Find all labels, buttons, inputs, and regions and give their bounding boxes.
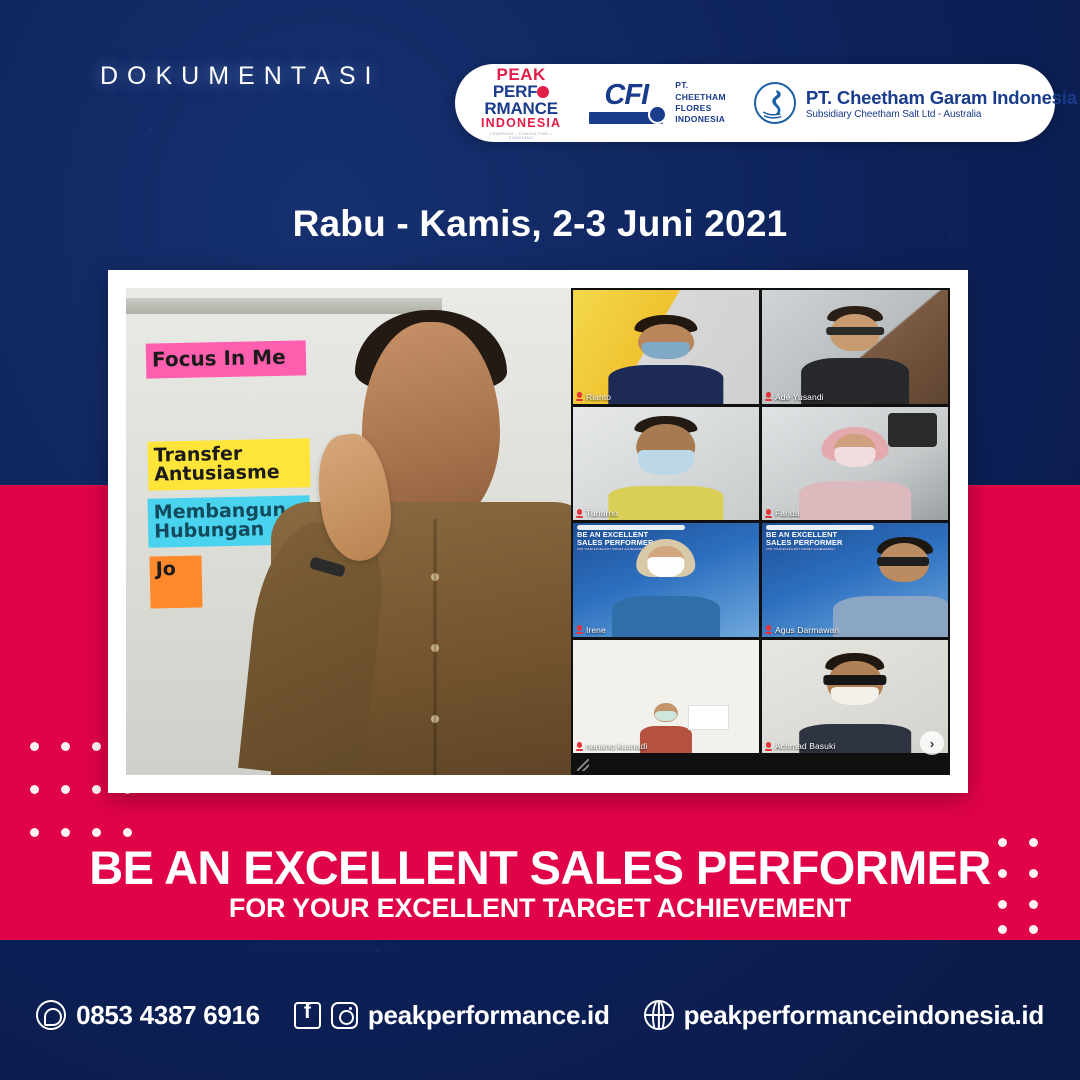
participant-mask — [638, 450, 694, 475]
participant-body — [608, 486, 723, 520]
cfi-line4: INDONESIA — [675, 114, 726, 125]
mic-icon — [576, 509, 583, 518]
cfi-line1: PT. — [675, 80, 726, 91]
resize-grip-icon[interactable] — [577, 759, 589, 771]
decorative-dots-left-row3 — [30, 828, 132, 837]
contact-website[interactable]: peakperformanceindonesia.id — [644, 1000, 1044, 1031]
peak-logo-line2: PERFRMANCE — [481, 83, 561, 117]
slide-title-line2: SALES PERFORMER — [766, 539, 881, 547]
participant-name-badge: Farida — [765, 508, 800, 518]
peak-performance-logo: PEAK PERFRMANCE INDONESIA LEARNING • CON… — [481, 66, 561, 140]
decorative-dots-left-row1 — [30, 742, 101, 751]
participant-tile[interactable]: BE AN EXCELLENT SALES PERFORMER FOR YOUR… — [573, 523, 759, 637]
participant-name: Irene — [586, 625, 606, 635]
globe-icon — [644, 1000, 674, 1030]
page-title: BE AN EXCELLENT SALES PERFORMER — [0, 840, 1080, 895]
event-date: Rabu - Kamis, 2-3 Juni 2021 — [0, 203, 1080, 245]
participant-glasses — [823, 675, 886, 685]
photo-frame: Focus In Me Transfer Antusiasme Membangu… — [108, 270, 968, 793]
wall-frame-decor — [888, 413, 936, 447]
participant-name: Ade Yusandi — [775, 392, 824, 402]
participant-tile[interactable]: nanang kusnadi — [573, 640, 759, 754]
speaker-video-pane: Focus In Me Transfer Antusiasme Membangu… — [126, 288, 571, 775]
participant-tile[interactable]: Achmad Basuki — [762, 640, 948, 754]
phone-number: 0853 4387 6916 — [76, 1000, 260, 1031]
participant-glasses — [877, 557, 929, 566]
participant-body — [799, 481, 911, 520]
mic-icon — [765, 509, 772, 518]
participant-name: nanang kusnadi — [586, 741, 647, 751]
peak-logo-line3: INDONESIA — [481, 117, 561, 130]
eyebrow-label: DOKUMENTASI — [100, 62, 381, 91]
cfi-line2: CHEETHAM — [675, 92, 726, 103]
next-page-arrow-icon[interactable]: › — [920, 731, 944, 755]
cfi-line3: FLORES — [675, 103, 726, 114]
shirt-button-2 — [431, 644, 439, 652]
website-url: peakperformanceindonesia.id — [684, 1000, 1044, 1031]
participant-name-badge: Achmad Basuki — [765, 741, 835, 751]
facebook-icon — [294, 1002, 321, 1029]
participant-name: Achmad Basuki — [775, 741, 835, 751]
participant-name-badge: Ade Yusandi — [765, 392, 824, 402]
participant-body — [608, 365, 723, 404]
participant-tile[interactable]: Rianto — [573, 290, 759, 404]
social-handle: peakperformance.id — [368, 1000, 610, 1031]
participant-body — [640, 726, 692, 753]
sponsor-logo-bar: PEAK PERFRMANCE INDONESIA LEARNING • CON… — [455, 64, 1055, 142]
desk-paper-decor — [688, 705, 729, 730]
cheetham-subtitle: Subsidiary Cheetham Salt Ltd - Australia — [806, 109, 1077, 120]
participant-tile[interactable]: BE AN EXCELLENT SALES PERFORMER FOR YOUR… — [762, 523, 948, 637]
peak-logo-tagline: LEARNING • CONSULTING • COACHING — [481, 132, 561, 140]
participant-tile[interactable]: Tunarno — [573, 407, 759, 521]
cfi-logo: CFI PT. CHEETHAM FLORES INDONESIA — [589, 80, 726, 126]
poster-canvas: DOKUMENTASI PEAK PERFRMANCE INDONESIA LE… — [0, 0, 1080, 1080]
participant-name: Tunarno — [586, 508, 618, 518]
cfi-mark-icon: CFI — [589, 82, 663, 123]
shirt-button-3 — [431, 715, 439, 723]
participant-name-badge: Irene — [576, 625, 606, 635]
participant-body — [833, 596, 948, 637]
participant-name: Rianto — [586, 392, 611, 402]
participant-name-badge: Agus Darmawan — [765, 625, 839, 635]
speaker-figure — [251, 288, 571, 775]
participant-tile[interactable]: Farida — [762, 407, 948, 521]
mic-icon — [765, 392, 772, 401]
participant-tile[interactable]: Ade Yusandi — [762, 290, 948, 404]
mic-icon — [576, 392, 583, 401]
participant-mask — [835, 447, 876, 466]
zoom-participant-grid: Rianto Ade Yusandi — [571, 288, 950, 775]
cfi-globe-icon — [648, 105, 667, 124]
cfi-bar-shape — [589, 112, 663, 124]
participant-name: Agus Darmawan — [775, 625, 839, 635]
page-subtitle: FOR YOUR EXCELLENT TARGET ACHIEVEMENT — [0, 893, 1080, 924]
cheetham-name: PT. Cheetham Garam Indonesia — [806, 87, 1077, 109]
cfi-name-lines: PT. CHEETHAM FLORES INDONESIA — [675, 80, 726, 126]
screenshot-image: Focus In Me Transfer Antusiasme Membangu… — [126, 288, 950, 775]
cfi-wordmark: CFI — [589, 82, 663, 108]
mic-icon — [765, 742, 772, 751]
instagram-icon — [331, 1002, 358, 1029]
globe-meridian — [652, 1000, 665, 1030]
mic-icon — [765, 625, 772, 634]
shirt-button-1 — [431, 573, 439, 581]
participant-body — [612, 596, 720, 637]
contact-whatsapp[interactable]: 0853 4387 6916 — [36, 1000, 260, 1031]
slide-subtitle: FOR YOUR EXCELLENT TARGET ACHIEVEMENT — [766, 548, 881, 551]
sticky-note-orange: Jo — [149, 555, 202, 608]
contact-social[interactable]: peakperformance.id — [294, 1000, 610, 1031]
participant-name-badge: Tunarno — [576, 508, 618, 518]
virtual-bg-slide: BE AN EXCELLENT SALES PERFORMER FOR YOUR… — [766, 531, 881, 551]
participant-mask — [831, 687, 879, 705]
participant-name-badge: nanang kusnadi — [576, 741, 647, 751]
participant-mask — [642, 342, 690, 359]
contact-footer: 0853 4387 6916 peakperformance.id peakpe… — [0, 985, 1080, 1045]
whatsapp-icon — [36, 1000, 66, 1030]
decorative-dots-right-bottom — [998, 925, 1038, 934]
cheetham-garam-logo: PT. Cheetham Garam Indonesia Subsidiary … — [754, 82, 1077, 124]
participant-name: Farida — [775, 508, 800, 518]
peak-logo-line1: PEAK — [481, 66, 561, 83]
mic-icon — [576, 742, 583, 751]
participant-name-badge: Rianto — [576, 392, 611, 402]
cheetham-seahorse-icon — [754, 82, 796, 124]
participant-glasses — [826, 327, 884, 335]
mic-icon — [576, 625, 583, 634]
cheetham-text-block: PT. Cheetham Garam Indonesia Subsidiary … — [806, 87, 1077, 120]
